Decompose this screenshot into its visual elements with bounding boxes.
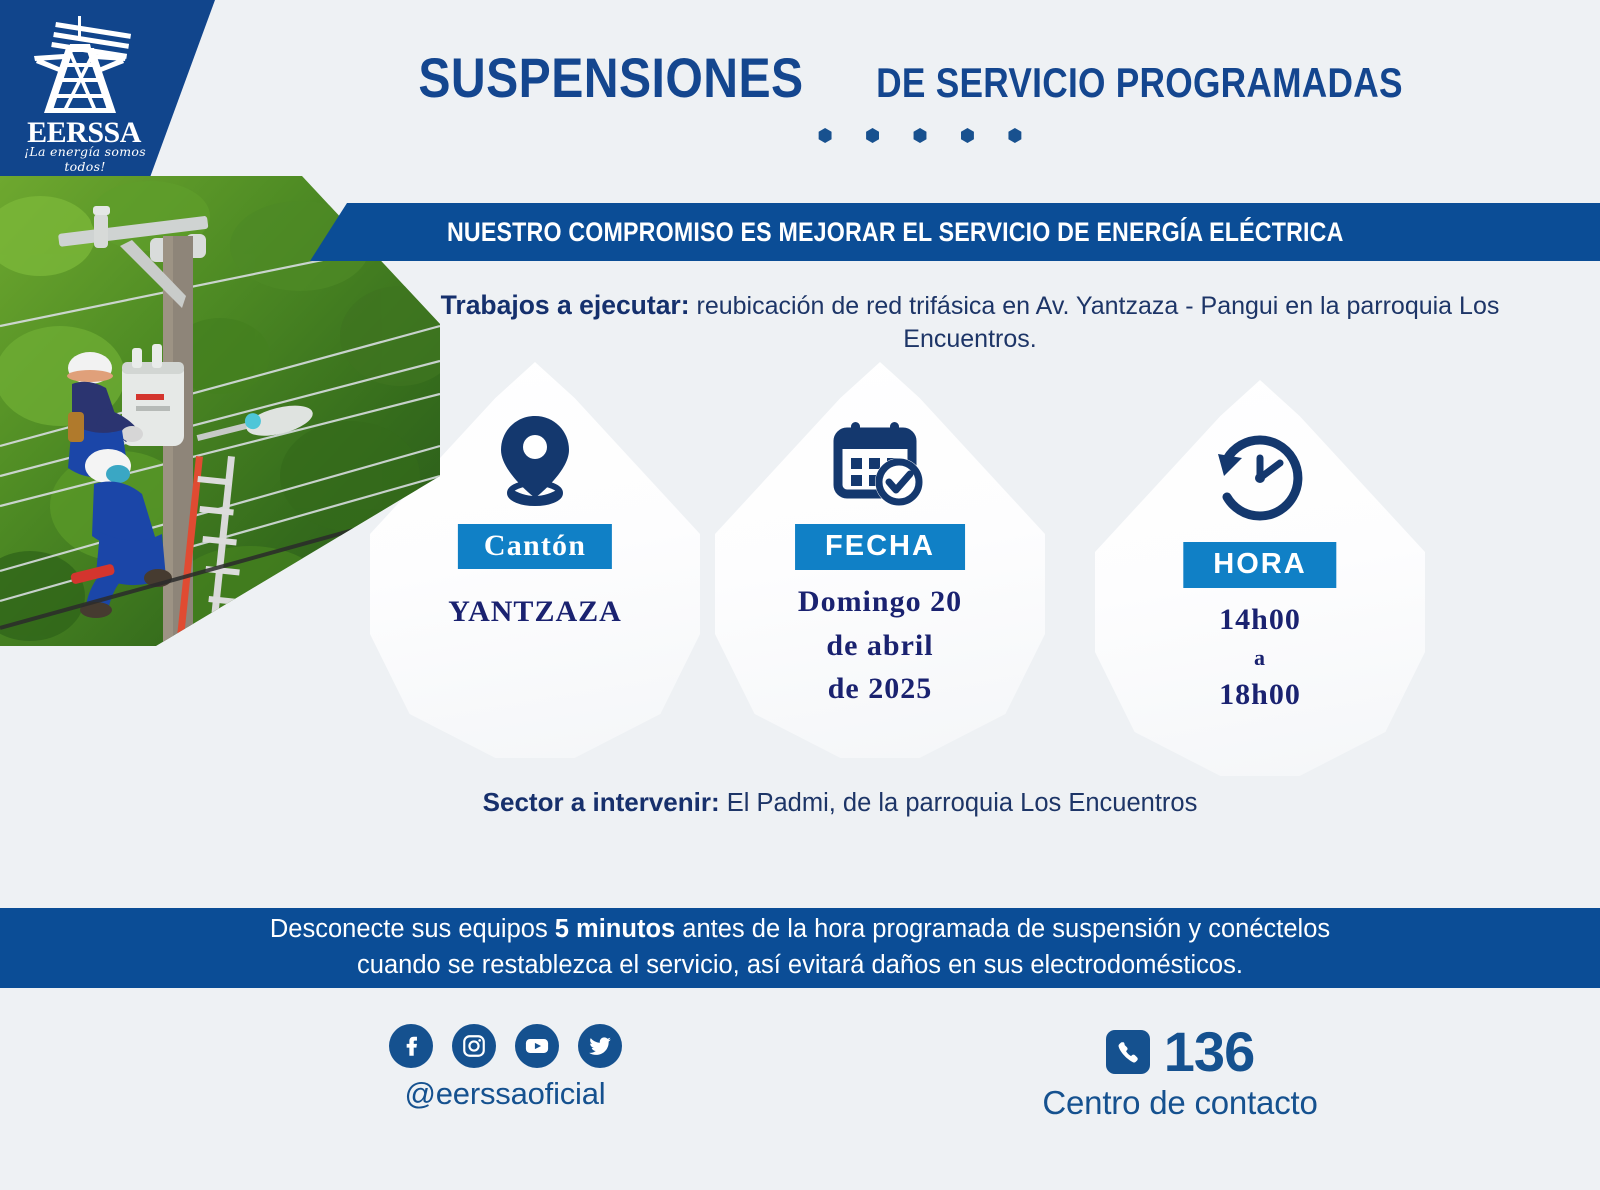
social-icon-row (380, 1024, 630, 1068)
notice-bar: Desconecte sus equipos 5 minutos antes d… (0, 908, 1600, 988)
footer: @eerssaoficial 136 Centro de contacto (0, 1000, 1600, 1190)
card-hora-value-line: 14h00 (1095, 598, 1425, 642)
card-canton-value: YANTZAZA (370, 590, 700, 634)
dot-icon (818, 128, 833, 143)
notice-highlight: 5 minutos (555, 915, 675, 943)
works-text: reubicación de red trifásica en Av. Yant… (690, 292, 1500, 353)
title-dot-separator (300, 128, 1540, 148)
notice-text-a: Desconecte sus equipos (270, 915, 555, 943)
works-description: Trabajos a ejecutar: reubicación de red … (400, 288, 1540, 355)
card-hora-value: 14h00 a 18h00 (1095, 598, 1425, 717)
card-hora-value-line: a (1095, 642, 1425, 674)
sector-label: Sector a intervenir: (483, 787, 720, 817)
notice-text-c: antes de la hora programada de suspensió… (675, 915, 1330, 943)
power-tower-icon (22, 8, 138, 128)
dot-icon (1007, 128, 1022, 143)
commitment-banner-text: NUESTRO COMPROMISO ES MEJORAR EL SERVICI… (447, 217, 1344, 248)
page-title-main: SUSPENSIONES (419, 45, 804, 110)
commitment-banner: NUESTRO COMPROMISO ES MEJORAR EL SERVICI… (310, 203, 1600, 261)
dot-icon (913, 128, 928, 143)
clock-rotate-icon (1095, 432, 1425, 524)
sector-line: Sector a intervenir: El Padmi, de la par… (250, 787, 1430, 818)
contact-number: 136 (1164, 1024, 1254, 1080)
calendar-check-icon (715, 414, 1045, 510)
social-handle[interactable]: @eerssaoficial (380, 1076, 630, 1112)
social-block: @eerssaoficial (380, 1024, 630, 1112)
youtube-icon[interactable] (515, 1024, 559, 1068)
notice-line-1: Desconecte sus equipos 5 minutos antes d… (270, 912, 1330, 948)
card-hora-badge: HORA (1183, 542, 1336, 588)
brand-tagline: ¡La energía somos todos! (10, 144, 160, 174)
sector-value: El Padmi, de la parroquia Los Encuentros (720, 789, 1198, 817)
card-fecha-value: Domingo 20 de abril de 2025 (715, 580, 1045, 711)
twitter-icon[interactable] (578, 1024, 622, 1068)
notice-line-2: cuando se restablezca el servicio, así e… (357, 948, 1243, 984)
contact-block: 136 Centro de contacto (990, 1024, 1370, 1122)
phone-icon (1106, 1030, 1150, 1074)
card-hora: HORA 14h00 a 18h00 (1095, 380, 1425, 780)
brand-logo-panel: EERSSA ¡La energía somos todos! (0, 0, 215, 176)
card-fecha-badge: FECHA (795, 524, 965, 570)
info-cards: Cantón YANTZAZA FECHA (370, 362, 1550, 762)
page-title-sub: DE SERVICIO PROGRAMADAS (876, 59, 1403, 107)
page-title: SUSPENSIONES DE SERVICIO PROGRAMADAS (300, 45, 1540, 110)
dot-icon (865, 128, 880, 143)
card-fecha-value-line: de 2025 (715, 667, 1045, 711)
card-hora-value-line: 18h00 (1095, 673, 1425, 717)
contact-label: Centro de contacto (990, 1084, 1370, 1122)
card-fecha: FECHA Domingo 20 de abril de 2025 (715, 362, 1045, 762)
works-label: Trabajos a ejecutar: (441, 290, 690, 320)
card-canton-badge: Cantón (458, 524, 612, 569)
dot-icon (960, 128, 975, 143)
contact-row: 136 (990, 1024, 1370, 1080)
facebook-icon[interactable] (389, 1024, 433, 1068)
card-fecha-value-line: de abril (715, 624, 1045, 668)
instagram-icon[interactable] (452, 1024, 496, 1068)
card-fecha-value-line: Domingo 20 (715, 580, 1045, 624)
